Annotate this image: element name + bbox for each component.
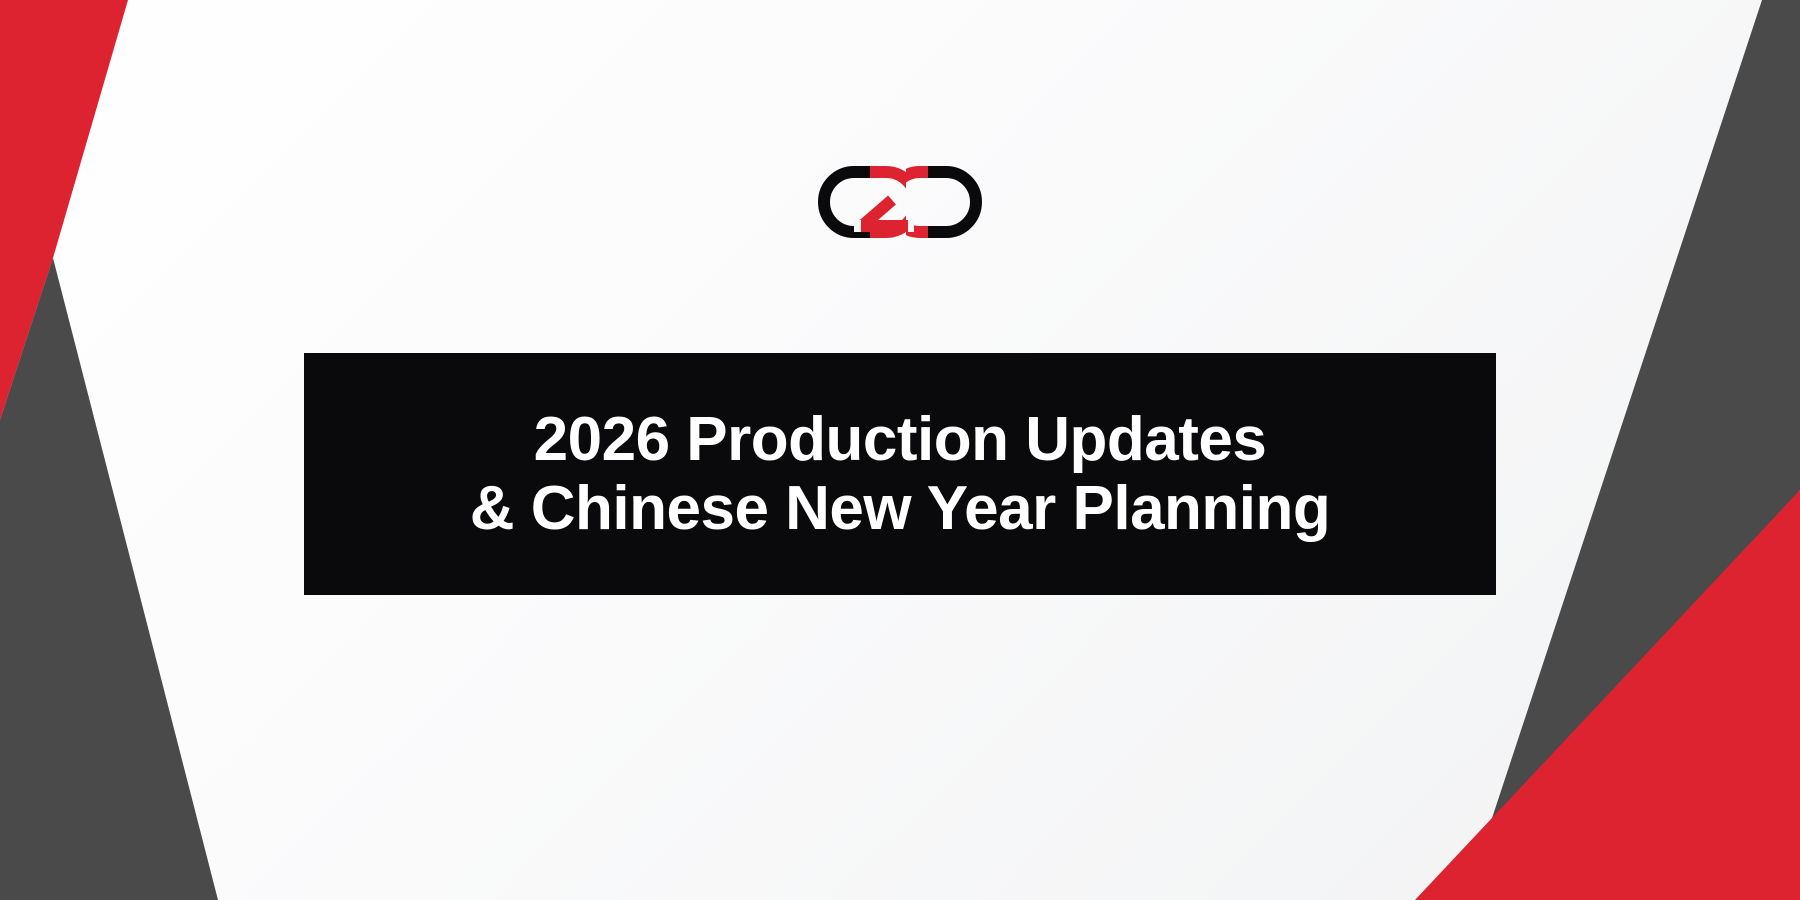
title-line-2: & Chinese New Year Planning [470,474,1331,543]
title-plate: 2026 Production Updates & Chinese New Ye… [304,353,1496,595]
c2d-logo-icon: C2D interlocking chain-link logo [818,166,982,238]
promo-banner: C2D interlocking chain-link logo [0,0,1800,900]
logo-gap-right [908,220,914,232]
brand-logo: C2D interlocking chain-link logo [818,166,982,238]
logo-gap-left [854,220,861,232]
logo-two-accent [860,200,908,232]
title-line-1: 2026 Production Updates [534,405,1267,474]
left-gray-wedge [0,258,218,900]
